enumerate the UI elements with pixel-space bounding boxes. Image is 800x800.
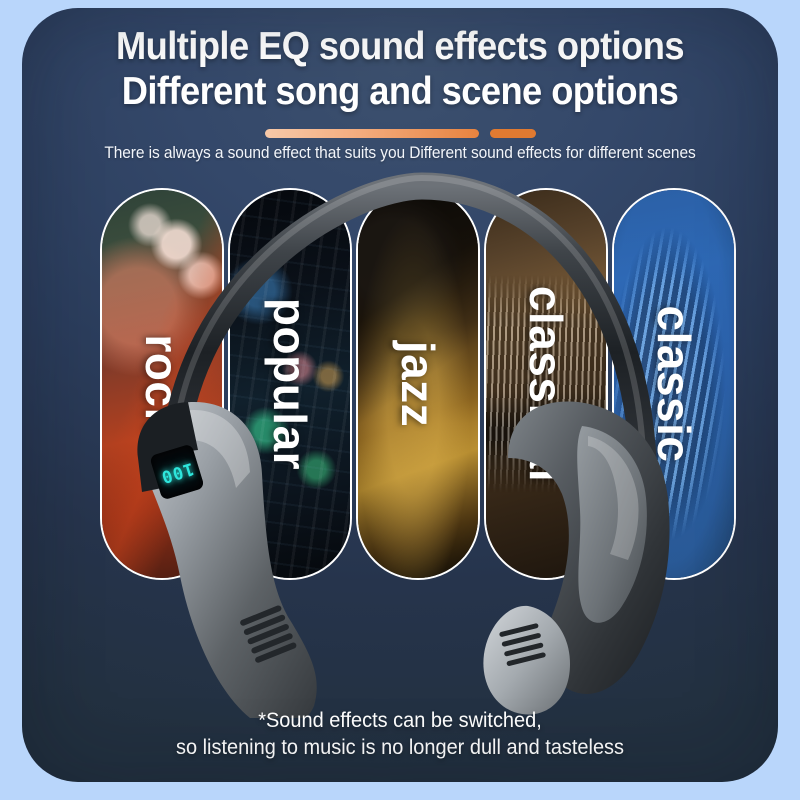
- eq-panel-popular[interactable]: popular: [228, 188, 352, 580]
- product-banner-card: Multiple EQ sound effects options Differ…: [22, 8, 778, 782]
- accent-divider: [22, 128, 778, 138]
- banner-stage: Multiple EQ sound effects options Differ…: [0, 0, 800, 800]
- eq-panel-label: classical: [519, 286, 573, 482]
- footer-line-1: *Sound effects can be switched,: [41, 708, 759, 734]
- headline-line-1: Multiple EQ sound effects options: [48, 25, 751, 69]
- eq-panel-label: rock: [135, 334, 189, 433]
- led-digits: 100: [158, 459, 195, 485]
- subtitle-text: There is always a sound effect that suit…: [45, 144, 756, 163]
- eq-panel-classic[interactable]: classic: [612, 188, 736, 580]
- headline-line-2: Different song and scene options: [48, 70, 751, 114]
- footer-note: *Sound effects can be switched, so liste…: [22, 708, 778, 761]
- eq-panel-jazz[interactable]: jazz: [356, 188, 480, 580]
- eq-panel-label: popular: [263, 298, 317, 470]
- eq-scene-panel-row: rock popular jazz classical classic: [80, 188, 778, 580]
- eq-panel-label: classic: [647, 306, 701, 463]
- eq-panel-rock[interactable]: rock: [100, 188, 224, 580]
- eq-panel-classical[interactable]: classical: [484, 188, 608, 580]
- eq-panel-label: jazz: [391, 341, 445, 427]
- accent-bar-solid: [490, 129, 536, 138]
- footer-line-2: so listening to music is no longer dull …: [41, 734, 759, 761]
- accent-bar-gradient: [265, 129, 479, 138]
